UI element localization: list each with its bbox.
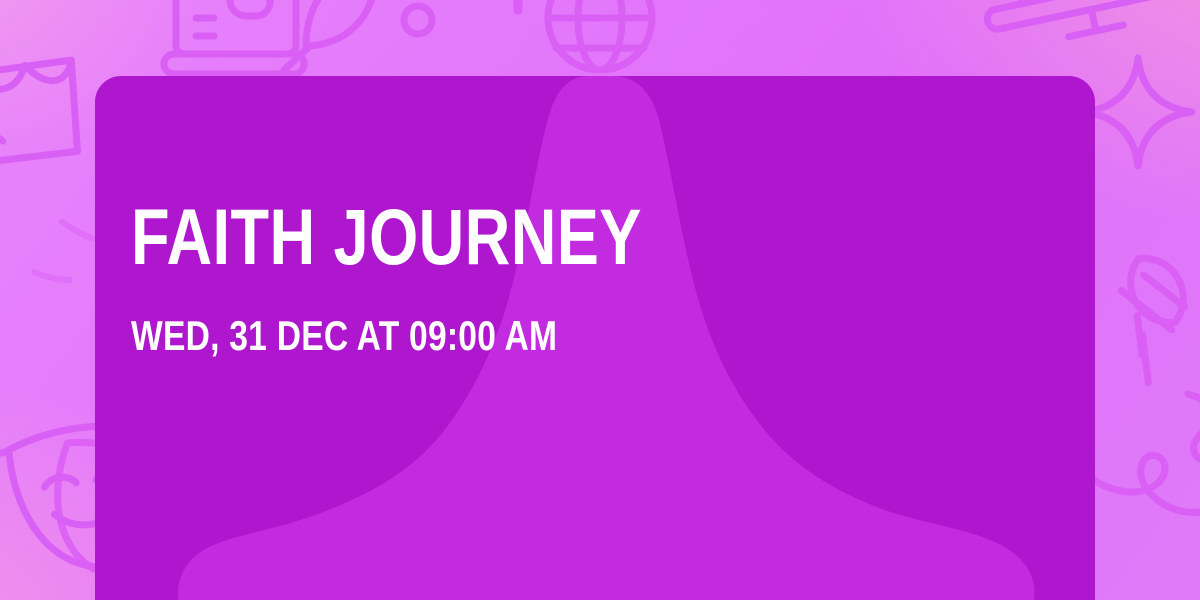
microphone-icon xyxy=(1082,249,1200,382)
circle-outline-icon xyxy=(404,6,432,34)
event-text-block: Faith Journey Wed, 31 Dec at 09:00 AM xyxy=(131,204,731,355)
event-card: Faith Journey Wed, 31 Dec at 09:00 AM xyxy=(95,76,1095,600)
globe-icon xyxy=(548,0,652,70)
podium-icon xyxy=(975,0,1198,53)
typewriter-icon xyxy=(164,0,304,74)
ticket-icon xyxy=(0,48,93,177)
page-title: Faith Journey xyxy=(131,204,611,270)
sparkle-icon xyxy=(1084,58,1192,166)
event-banner: Faith Journey Wed, 31 Dec at 09:00 AM xyxy=(0,0,1200,600)
accent-arc-icon xyxy=(34,222,92,280)
event-datetime: Wed, 31 Dec at 09:00 AM xyxy=(131,270,611,355)
